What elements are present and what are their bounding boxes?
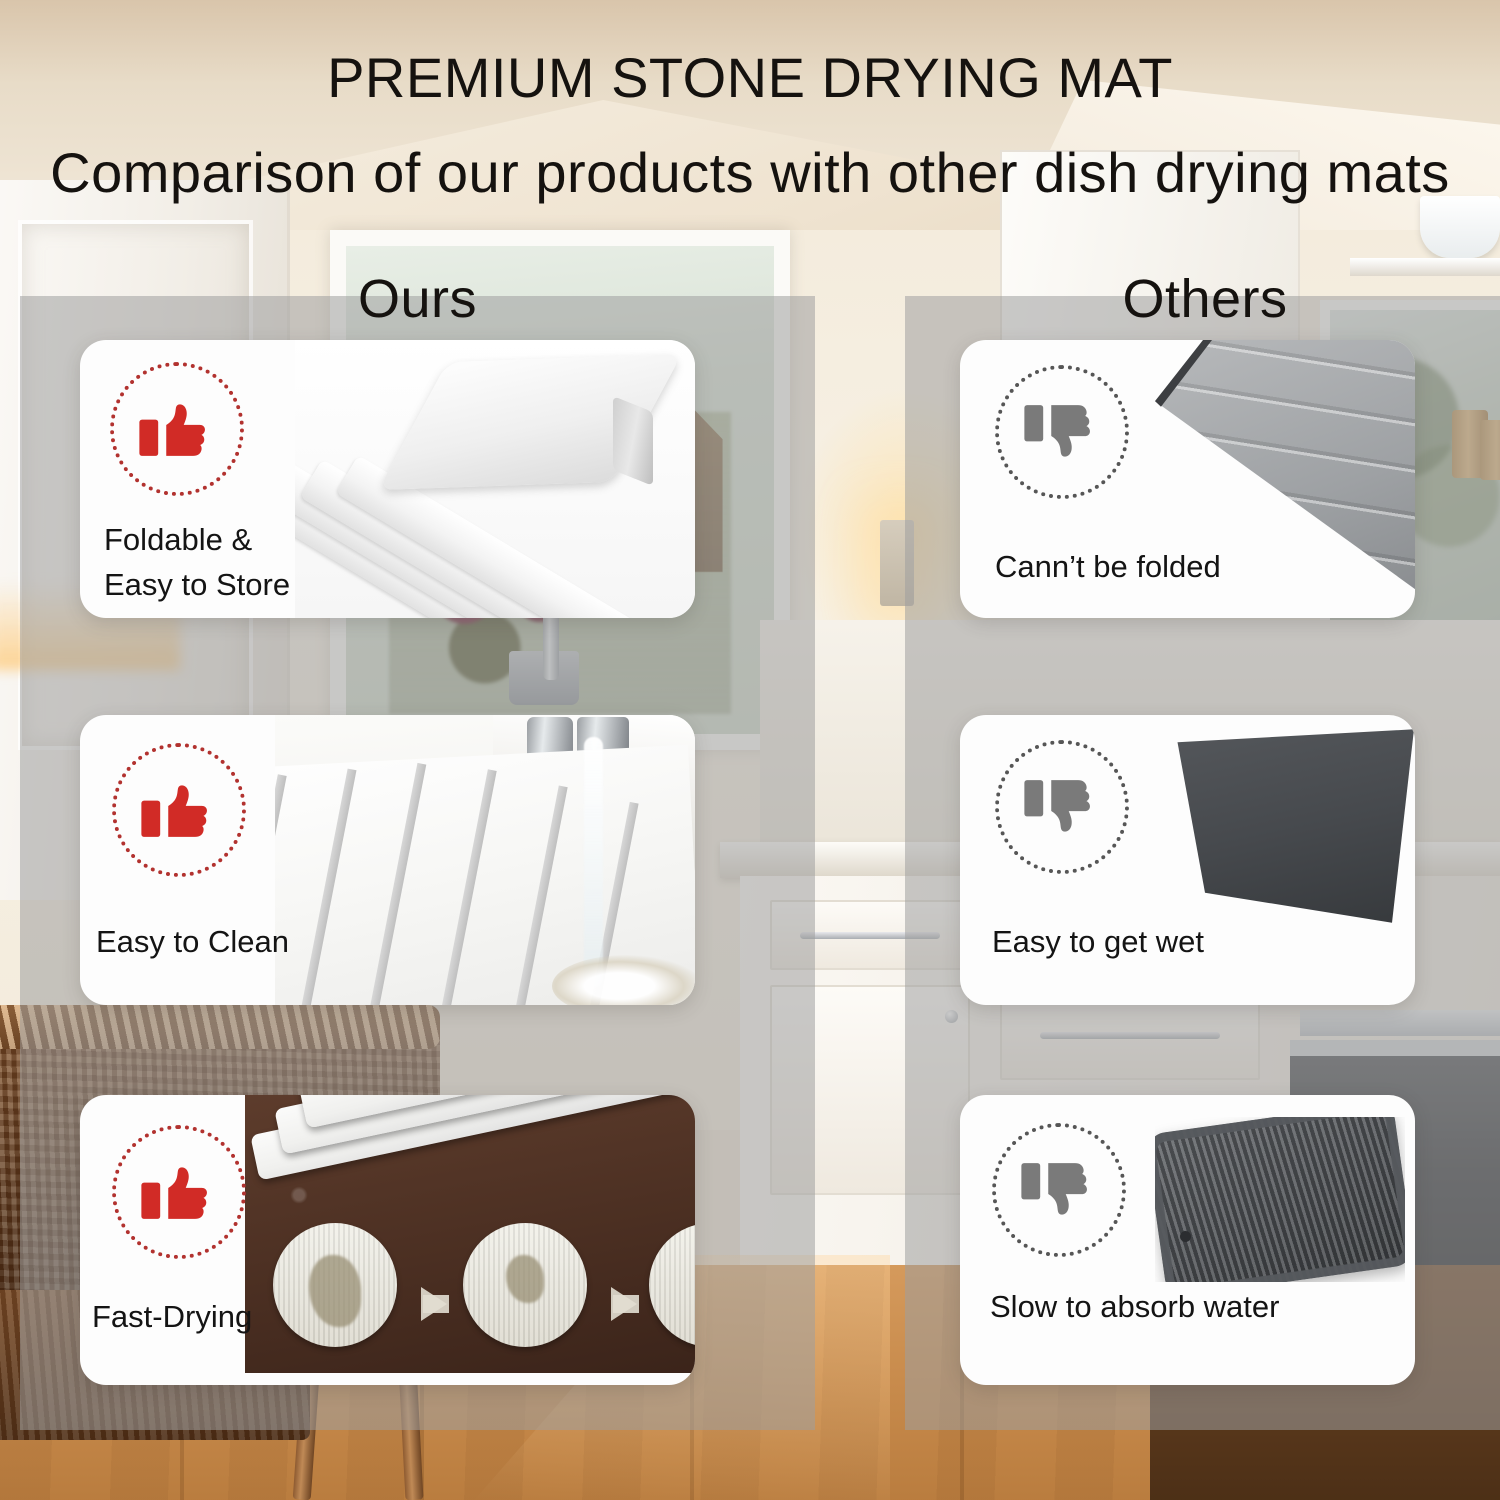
mat-groove [431,769,497,1005]
card-label-others-3: Slow to absorb water [990,1285,1279,1330]
comparison-card-others-1[interactable]: Cann’t be folded [960,340,1415,618]
product-photo-silicone-mat [1155,1117,1405,1282]
card-content: Cann’t be folded [960,340,1415,618]
thumbs-down-icon [1019,389,1105,475]
page-subtitle: Comparison of our products with other di… [0,140,1500,205]
card-content: Fast-Drying [80,1095,695,1385]
product-photo-folded-mat [295,340,695,618]
card-label-others-1: Cann’t be folded [995,545,1221,590]
card-content: Easy to get wet [960,715,1415,1005]
product-photo-drying-stages [245,1095,695,1373]
drying-stage-1 [273,1223,397,1347]
mat-groove [291,768,357,1005]
card-content: Slow to absorb water [960,1095,1415,1385]
comparison-card-ours-3[interactable]: Fast-Drying [80,1095,695,1385]
drying-stage-3 [649,1223,695,1347]
column-header-ours: Ours [20,268,815,330]
shelf-dishes [1420,196,1500,258]
mat-groove [360,763,426,1005]
page-title: PREMIUM STONE DRYING MAT [0,45,1500,110]
thumbs-up-icon [136,767,222,853]
thumbs-down-icon [1019,764,1105,850]
mat-roll-scene [295,340,695,618]
drying-stage-2 [463,1223,587,1347]
card-content: Foldable & Easy to Store [80,340,695,618]
thumbs-down-icon-badge [992,1123,1126,1257]
thumbs-up-icon-badge [112,743,246,877]
product-photo-rinsing-mat [275,715,695,1005]
comparison-card-ours-2[interactable]: Easy to Clean [80,715,695,1005]
arrow-right-icon [421,1287,447,1321]
comparison-card-others-2[interactable]: Easy to get wet [960,715,1415,1005]
card-label-ours-1: Foldable & Easy to Store [104,518,290,608]
water-stream [584,737,603,987]
card-content: Easy to Clean [80,715,695,1005]
arrow-right-icon [611,1287,637,1321]
thumbs-up-icon [134,386,220,472]
card-label-ours-2: Easy to Clean [96,920,289,965]
water-mark-stage-1 [309,1255,361,1327]
thumbs-down-icon-badge [995,365,1129,499]
sink-scene [275,715,695,1005]
thumbs-down-icon-badge [995,740,1129,874]
silicone-mat-rim [1155,1117,1405,1282]
thumbs-down-icon [1016,1147,1102,1233]
thumbs-up-icon-badge [112,1125,246,1259]
thumbs-up-icon-badge [110,362,244,496]
mat-roll-end [613,396,653,486]
card-label-others-2: Easy to get wet [992,920,1204,965]
thumbs-up-icon [136,1149,222,1235]
comparison-card-ours-1[interactable]: Foldable & Easy to Store [80,340,695,618]
drying-scene [245,1095,695,1373]
comparison-card-others-3[interactable]: Slow to absorb water [960,1095,1415,1385]
water-mark-stage-2 [506,1255,544,1303]
mat-groove [275,774,287,1005]
card-label-ours-3: Fast-Drying [92,1295,252,1340]
dark-grey-flat-mat [1150,725,1415,940]
product-photo-flat-mat [1150,725,1415,940]
column-header-others: Others [905,268,1500,330]
